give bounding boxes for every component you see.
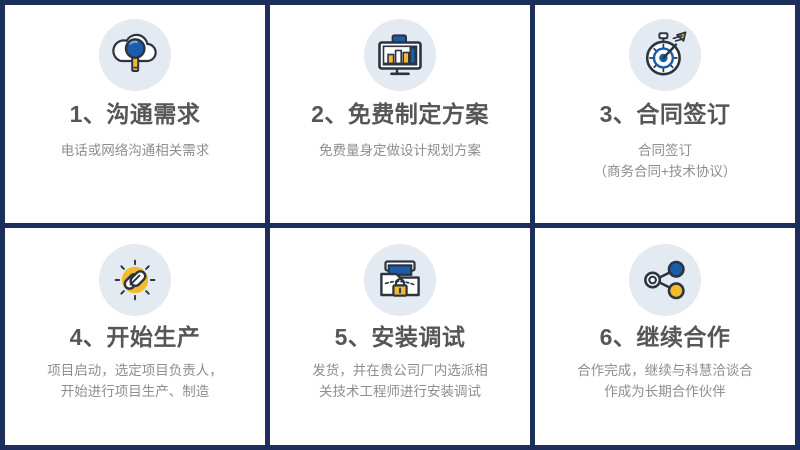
desc-line: 项目启动，选定项目负责人， bbox=[47, 361, 223, 382]
step-card-6: 6、继续合作 合作完成，继续与科慧洽谈合 作成为长期合作伙伴 bbox=[535, 228, 795, 446]
step-description: 项目启动，选定项目负责人， 开始进行项目生产、制造 bbox=[41, 361, 229, 403]
step-description: 合作完成，继续与科慧洽谈合 作成为长期合作伙伴 bbox=[571, 361, 759, 403]
share-nodes-icon bbox=[629, 244, 701, 316]
step-description: 电话或网络沟通相关需求 bbox=[55, 141, 216, 162]
folder-lock-icon bbox=[364, 244, 436, 316]
step-title: 4、开始生产 bbox=[70, 324, 201, 352]
step-description: 免费量身定做设计规划方案 bbox=[313, 141, 487, 162]
cloud-search-icon bbox=[99, 19, 171, 91]
desc-line: 合同签订 bbox=[594, 141, 737, 162]
step-card-3: 3、合同签订 合同签订 （商务合同+技术协议） bbox=[535, 5, 795, 223]
step-card-1: 1、沟通需求 电话或网络沟通相关需求 bbox=[5, 5, 265, 223]
desc-line: 合作完成，继续与科慧洽谈合 bbox=[577, 361, 753, 382]
desc-line: 开始进行项目生产、制造 bbox=[47, 382, 223, 403]
desc-line: 免费量身定做设计规划方案 bbox=[319, 141, 481, 162]
step-title: 3、合同签订 bbox=[600, 101, 731, 129]
desc-line: 作成为长期合作伙伴 bbox=[577, 382, 753, 403]
desc-line: （商务合同+技术协议） bbox=[594, 162, 737, 183]
step-title: 2、免费制定方案 bbox=[311, 101, 489, 129]
process-steps-grid: 1、沟通需求 电话或网络沟通相关需求 2、免费制定方案 免费量身定做设计 bbox=[0, 0, 800, 450]
step-title: 6、继续合作 bbox=[600, 324, 731, 352]
step-card-2: 2、免费制定方案 免费量身定做设计规划方案 bbox=[270, 5, 530, 223]
desc-line: 关技术工程师进行安装调试 bbox=[312, 382, 488, 403]
step-card-5: 5、安装调试 发货，并在贵公司厂内选派相 关技术工程师进行安装调试 bbox=[270, 228, 530, 446]
step-title: 1、沟通需求 bbox=[70, 101, 201, 129]
step-title: 5、安装调试 bbox=[335, 324, 466, 352]
step-description: 合同签订 （商务合同+技术协议） bbox=[588, 141, 743, 183]
monitor-chart-icon bbox=[364, 19, 436, 91]
desc-line: 电话或网络沟通相关需求 bbox=[61, 141, 210, 162]
chain-link-icon bbox=[99, 244, 171, 316]
stopwatch-target-arrow-icon bbox=[629, 19, 701, 91]
step-description: 发货，并在贵公司厂内选派相 关技术工程师进行安装调试 bbox=[306, 361, 494, 403]
step-card-4: 4、开始生产 项目启动，选定项目负责人， 开始进行项目生产、制造 bbox=[5, 228, 265, 446]
desc-line: 发货，并在贵公司厂内选派相 bbox=[312, 361, 488, 382]
